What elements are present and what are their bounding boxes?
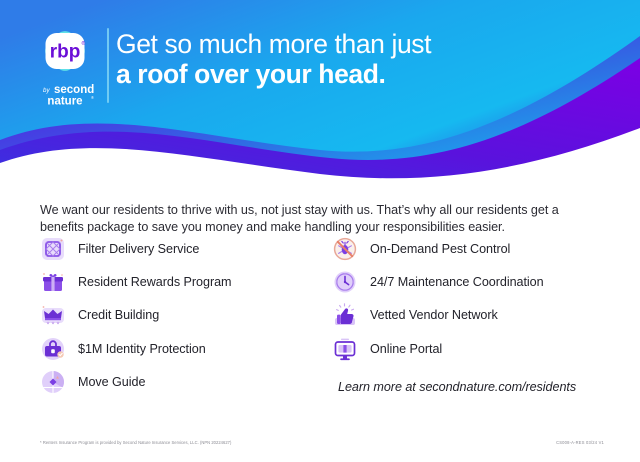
compass-pie-icon <box>40 369 66 395</box>
benefit-label: Online Portal <box>370 342 442 356</box>
wordmark-nature: nature <box>47 96 82 108</box>
gift-icon <box>40 269 66 295</box>
flyer-page: rbp ® by second nature ® Get so much mor… <box>0 0 640 462</box>
benefit-item: $1M Identity Protection <box>40 332 332 365</box>
learn-more-text[interactable]: Learn more at secondnature.com/residents <box>338 380 600 394</box>
no-pest-icon <box>332 236 358 262</box>
benefit-label: $1M Identity Protection <box>78 342 206 356</box>
benefit-item: 24/7 Maintenance Coordination <box>332 265 600 298</box>
benefit-label: Vetted Vendor Network <box>370 308 498 322</box>
second-nature-wordmark: by second nature ® <box>28 81 102 107</box>
page-title: Get so much more than just a roof over y… <box>116 29 586 89</box>
headline-line-1: Get so much more than just <box>116 29 586 59</box>
benefit-item: Online Portal <box>332 332 600 365</box>
benefit-label: On-Demand Pest Control <box>370 242 510 256</box>
benefit-label: Filter Delivery Service <box>78 242 199 256</box>
wordmark-by: by <box>43 87 50 94</box>
monitor-icon <box>332 336 358 362</box>
benefit-label: Resident Rewards Program <box>78 275 232 289</box>
rbp-burst-icon: rbp ® <box>38 24 92 78</box>
headline-line-2: a roof over your head. <box>116 59 586 89</box>
benefit-item: Vetted Vendor Network <box>332 299 600 332</box>
benefit-item: Filter Delivery Service <box>40 232 332 265</box>
thumbs-up-icon <box>332 302 358 328</box>
filter-icon <box>40 236 66 262</box>
benefit-item: On-Demand Pest Control <box>332 232 600 265</box>
benefit-label: Credit Building <box>78 308 159 322</box>
footer-doc-code: CS008-A-RES 03/24 V1 <box>556 440 604 445</box>
benefit-item: Credit Building <box>40 299 332 332</box>
crown-stars-icon <box>40 302 66 328</box>
benefits-column-left: Filter Delivery Service Resident Rewards… <box>40 232 332 399</box>
wordmark-trademark: ® <box>91 95 94 100</box>
briefcase-lock-icon <box>40 336 66 362</box>
footer-disclaimer: * Renters Insurance Program is provided … <box>40 440 231 445</box>
second-nature-text: by second nature ® <box>28 81 102 107</box>
rbp-logo: rbp ® by second nature ® <box>28 24 102 106</box>
hero-banner: rbp ® by second nature ® Get so much mor… <box>0 0 640 185</box>
benefit-item: Resident Rewards Program <box>40 265 332 298</box>
benefit-label: 24/7 Maintenance Coordination <box>370 275 544 289</box>
benefit-label: Move Guide <box>78 375 145 389</box>
clock-icon <box>332 269 358 295</box>
wordmark-second: second <box>54 84 94 96</box>
header-divider <box>107 28 109 103</box>
rbp-logo-mark: rbp ® <box>38 24 92 78</box>
benefits-column-right: On-Demand Pest Control 24/7 Maint <box>332 232 600 399</box>
rbp-trademark: ® <box>82 40 86 47</box>
benefit-item: Move Guide <box>40 366 332 399</box>
benefits-section: Filter Delivery Service Resident Rewards… <box>40 232 600 399</box>
rbp-logo-text: rbp <box>50 42 81 63</box>
